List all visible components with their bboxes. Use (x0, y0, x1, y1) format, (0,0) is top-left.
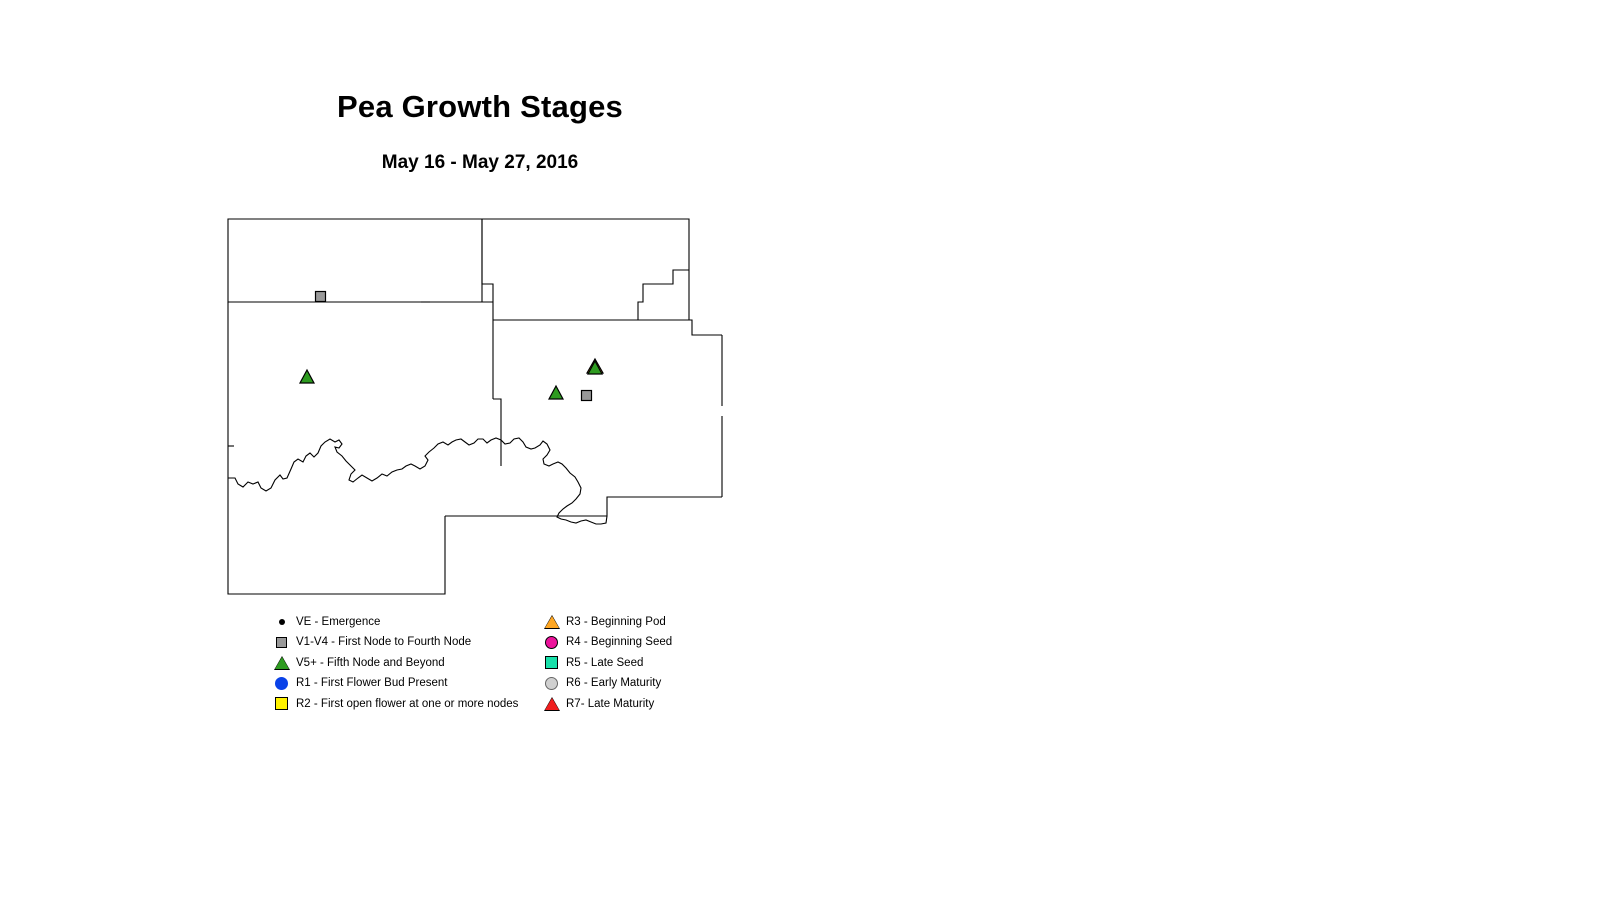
legend-item-r2[interactable]: R2 - First open flower at one or more no… (272, 694, 518, 715)
title-block: Pea Growth Stages May 16 - May 27, 2016 (130, 90, 830, 174)
r5-square-icon (542, 653, 564, 673)
legend-item-label: R6 - Early Maturity (564, 678, 661, 690)
ve-dot-icon (272, 612, 294, 632)
legend-item-r3[interactable]: R3 - Beginning Pod (542, 612, 672, 633)
river-boundary (228, 438, 607, 524)
legend-item-label: V5+ - Fifth Node and Beyond (294, 658, 445, 670)
legend-item-label: V1-V4 - First Node to Fourth Node (294, 637, 471, 649)
county-line-mid-east (493, 320, 722, 335)
page-root: Pea Growth Stages May 16 - May 27, 2016 (0, 0, 1612, 900)
map-point-v1v4-north[interactable] (316, 292, 326, 302)
county-divider-ne-west (482, 219, 493, 356)
legend-item-label: R1 - First Flower Bud Present (294, 678, 447, 690)
legend-item-ve[interactable]: VE - Emergence (272, 612, 518, 633)
county-boundary-west (228, 302, 445, 594)
legend-item-v5plus[interactable]: V5+ - Fifth Node and Beyond (272, 653, 518, 674)
county-boundary-ne (482, 219, 689, 320)
page-title: Pea Growth Stages (130, 90, 830, 124)
r6-circle-icon (542, 674, 564, 694)
legend-item-r6[interactable]: R6 - Early Maturity (542, 674, 672, 695)
legend-item-label: VE - Emergence (294, 617, 380, 629)
legend-item-label: R2 - First open flower at one or more no… (294, 699, 518, 711)
legend-item-r4[interactable]: R4 - Beginning Seed (542, 633, 672, 654)
r7-triangle-icon (542, 694, 564, 714)
r2-square-icon (272, 694, 294, 714)
legend-item-label: R5 - Late Seed (564, 658, 643, 670)
r4-circle-icon (542, 633, 564, 653)
r1-circle-icon (272, 674, 294, 694)
legend-column-right: R3 - Beginning Pod R4 - Beginning Seed R… (542, 612, 672, 715)
map-point-v5-east-lower[interactable] (549, 386, 563, 399)
legend-item-r7[interactable]: R7- Late Maturity (542, 694, 672, 715)
map-point-markers (300, 292, 603, 401)
legend-item-r1[interactable]: R1 - First Flower Bud Present (272, 674, 518, 695)
v1v4-square-icon (272, 633, 294, 653)
date-range-subtitle: May 16 - May 27, 2016 (130, 124, 830, 174)
legend: VE - Emergence V1-V4 - First Node to Fou… (272, 612, 732, 722)
legend-item-label: R7- Late Maturity (564, 699, 654, 711)
legend-item-r5[interactable]: R5 - Late Seed (542, 653, 672, 674)
county-outline-map (225, 216, 730, 604)
r3-triangle-icon (542, 612, 564, 632)
county-boundary-nw (228, 219, 482, 302)
legend-item-label: R4 - Beginning Seed (564, 637, 672, 649)
legend-column-left: VE - Emergence V1-V4 - First Node to Fou… (272, 612, 518, 715)
v5plus-triangle-icon (272, 653, 294, 673)
map-point-v5-west[interactable] (300, 370, 314, 383)
county-divider-center-b (493, 399, 501, 466)
map-point-v1v4-east[interactable] (582, 391, 592, 401)
county-line-se-bottom (445, 497, 722, 516)
legend-item-label: R3 - Beginning Pod (564, 617, 666, 629)
legend-item-v1v4[interactable]: V1-V4 - First Node to Fourth Node (272, 633, 518, 654)
map-container (225, 216, 730, 604)
